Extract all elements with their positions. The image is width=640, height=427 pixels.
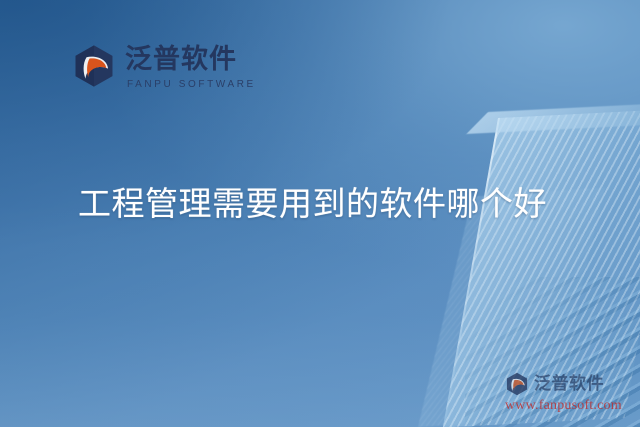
watermark: 泛普软件 www.fanpusoft.com	[505, 372, 635, 414]
promo-banner: 泛普软件 FANPU SOFTWARE 工程管理需要用到的软件哪个好 泛普软件 …	[0, 0, 640, 427]
fanpu-hexagon-logo-icon	[505, 372, 529, 396]
watermark-logo-row: 泛普软件	[505, 372, 635, 396]
brand-subtitle: FANPU SOFTWARE	[125, 78, 256, 92]
fanpu-hexagon-logo-icon	[72, 44, 116, 88]
watermark-brand-name: 泛普软件	[534, 374, 604, 394]
banner-headline: 工程管理需要用到的软件哪个好	[78, 182, 547, 226]
brand-name: 泛普软件	[125, 45, 256, 75]
watermark-url: www.fanpusoft.com	[505, 397, 635, 414]
brand-text-block: 泛普软件 FANPU SOFTWARE	[125, 44, 256, 92]
brand-logo-lockup: 泛普软件 FANPU SOFTWARE	[72, 44, 256, 92]
